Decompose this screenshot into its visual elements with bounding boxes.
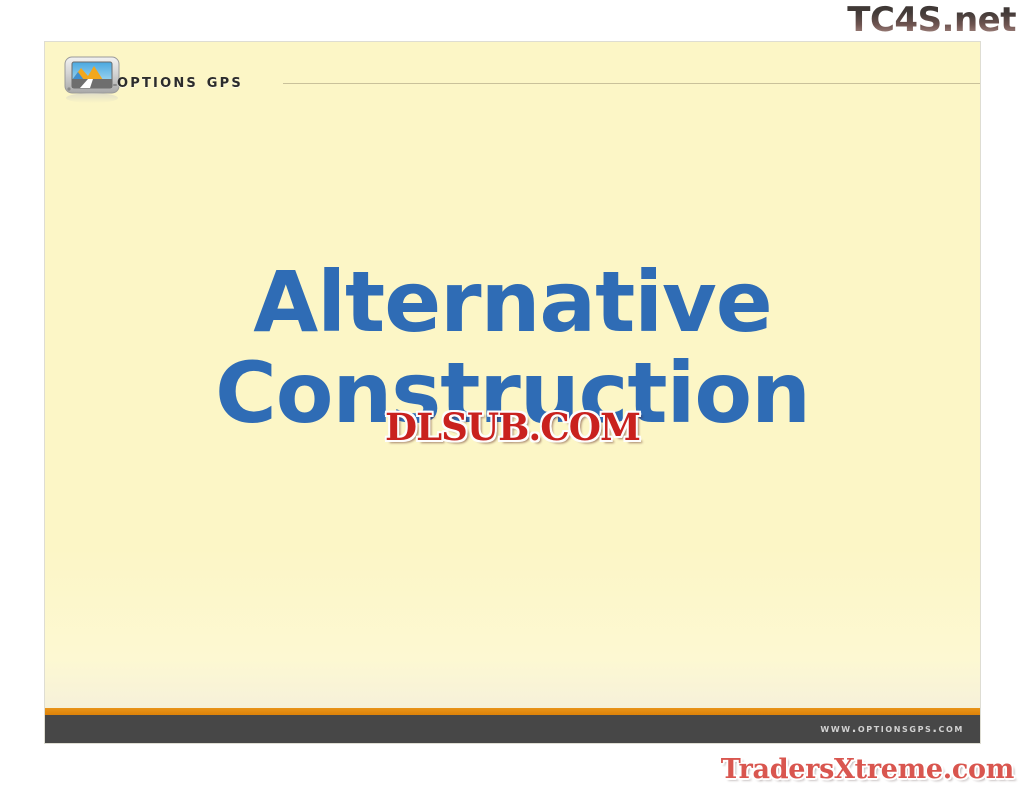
title-line-1: Alternative [45, 257, 980, 348]
logo-wordmark: Options GPS [117, 70, 243, 92]
slide-header: Options GPS [45, 42, 980, 114]
gps-navigator-icon [63, 54, 123, 106]
watermark-dlsub: DLSUB.COM [385, 405, 640, 449]
header-divider-rule [283, 83, 980, 84]
footer-bar: www.OptionsGPS.com [45, 715, 980, 743]
watermark-tradersxtreme: TradersXtreme.com [721, 754, 1014, 785]
slide-footer: www.OptionsGPS.com [45, 708, 980, 743]
footer-accent-bar [45, 708, 980, 715]
presentation-slide: Options GPS Alternative Construction DLS… [45, 42, 980, 743]
watermark-tc4s: TC4S.net [847, 0, 1016, 40]
footer-url-text: www.OptionsGPS.com [820, 721, 964, 735]
